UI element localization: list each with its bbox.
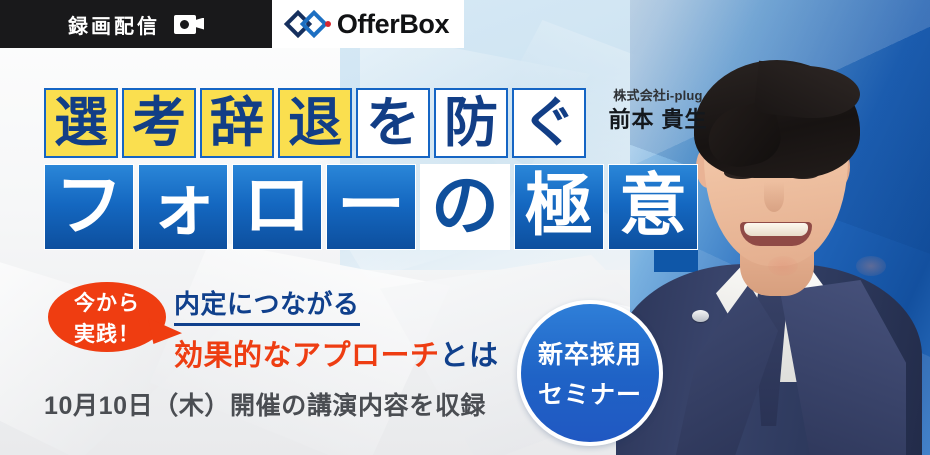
badge-line-2: セミナー — [538, 375, 642, 411]
speaker-info: 株式会社i-plug 前本 貴生 — [592, 88, 724, 134]
badge-line-1: 新卒採用 — [538, 335, 642, 371]
recording-date-note: 10月10日（木）開催の講演内容を収録 — [44, 386, 486, 422]
subtitle-tail: とは — [440, 340, 499, 372]
subtitle-line-1: 内定につながる — [174, 284, 360, 326]
recorded-stream-label: 録画配信 — [68, 10, 160, 39]
headline-char: 退 — [278, 88, 352, 158]
headline-char: フ — [44, 164, 134, 250]
speaker-company: 株式会社i-plug — [592, 88, 724, 104]
headline-char: ォ — [138, 164, 228, 250]
headline-char: 選 — [44, 88, 118, 158]
headline-char: 意 — [608, 164, 698, 250]
subtitle: 内定につながる 効果的なアプローチとは — [174, 284, 499, 374]
headline-char: の — [420, 164, 510, 250]
headline-char: 考 — [122, 88, 196, 158]
headline-char: ー — [326, 164, 416, 250]
nose — [764, 182, 784, 212]
cheek-right — [856, 256, 886, 276]
seminar-badge: 新卒採用 セミナー — [517, 300, 663, 446]
teeth — [744, 223, 808, 236]
callout-bubble: 今から 実践！ — [48, 282, 166, 352]
offerbox-logo: OfferBox — [272, 0, 464, 48]
video-camera-icon — [174, 15, 204, 34]
offerbox-diamond-logo-icon — [287, 11, 331, 37]
headline-char: 極 — [514, 164, 604, 250]
seminar-banner: 録画配信 OfferBox 選 考 辞 退 を 防 ぐ フ ォ ロ ー — [0, 0, 930, 455]
callout-line-2: 実践！ — [74, 318, 140, 348]
headline-row-2: フ ォ ロ ー の 極 意 — [44, 164, 698, 250]
headline-char: ぐ — [512, 88, 586, 158]
callout-line-1: 今から — [74, 287, 140, 317]
headline-char: 辞 — [200, 88, 274, 158]
lapel-pin — [692, 310, 709, 322]
headline-char: 防 — [434, 88, 508, 158]
recorded-stream-bar: 録画配信 — [0, 0, 272, 48]
subtitle-line-2: 効果的なアプローチとは — [174, 332, 499, 374]
headline-char: を — [356, 88, 430, 158]
speaker-name: 前本 貴生 — [592, 106, 724, 134]
cheek-left — [768, 256, 798, 276]
subtitle-accent: 効果的なアプローチ — [174, 340, 440, 372]
mouth — [740, 222, 812, 246]
offerbox-wordmark: OfferBox — [337, 9, 449, 40]
headline-char: ロ — [232, 164, 322, 250]
